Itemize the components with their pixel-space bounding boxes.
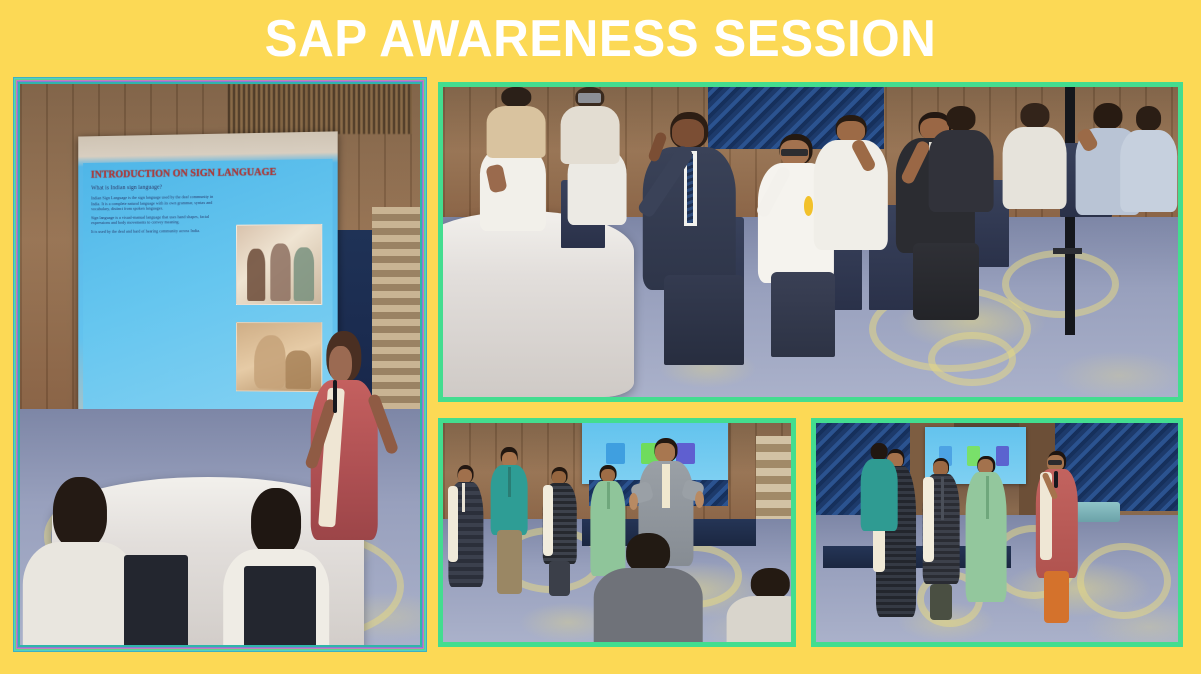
projection-heading xyxy=(955,430,956,435)
person-attendee xyxy=(1119,106,1178,211)
person-team-member xyxy=(488,447,530,598)
person-audience-foreground xyxy=(596,533,700,643)
person-attendee xyxy=(811,115,892,264)
eyeglasses-icon xyxy=(1048,460,1062,465)
slide-subtitle: What is Indian sign language? xyxy=(91,182,324,193)
person-attendee xyxy=(487,87,546,155)
eyeglasses-icon xyxy=(781,149,808,156)
person-photographer xyxy=(561,87,620,161)
slide-photo-signing-group xyxy=(236,224,322,306)
chair-back xyxy=(124,555,188,645)
photo-audience-signing-scene xyxy=(443,87,1178,397)
person-main-attendee xyxy=(627,112,752,360)
person-team-member xyxy=(540,467,578,598)
microphone-icon xyxy=(1054,471,1058,489)
lanyard-badge xyxy=(462,483,465,512)
lanyard-badge xyxy=(986,476,989,519)
chandelier xyxy=(228,84,412,134)
person-audience-foreground xyxy=(728,568,791,642)
slide-bullet-list: Indian Sign Language is the sign languag… xyxy=(91,195,220,235)
person-attendee xyxy=(928,106,994,211)
poster-canvas: SAP AWARENESS SESSION INTRODUCTION ON SI… xyxy=(0,0,1201,674)
person-team-member xyxy=(859,443,899,531)
slide-tile-icon xyxy=(606,443,625,464)
camera-phone-icon xyxy=(578,93,600,103)
person-team-member xyxy=(446,465,484,596)
slide-bullet: Indian Sign Language is the sign languag… xyxy=(91,195,220,212)
photo-panel-slide-presentation: INTRODUCTION ON SIGN LANGUAGE What is In… xyxy=(18,82,422,647)
microphone-icon xyxy=(333,380,337,414)
slide-title: INTRODUCTION ON SIGN LANGUAGE xyxy=(91,166,305,181)
necktie xyxy=(687,154,693,223)
shirt-and-tie xyxy=(662,464,670,508)
photo-panel-speaker-address xyxy=(438,418,796,647)
person-team-member xyxy=(921,458,961,620)
presenter-face xyxy=(329,346,352,382)
slide-bullet: Sign language is a visual-manual languag… xyxy=(91,214,220,226)
photo-speaker-address-scene xyxy=(443,423,791,642)
photo-slide-presentation-scene: INTRODUCTION ON SIGN LANGUAGE What is In… xyxy=(20,84,420,645)
photo-panel-audience-signing xyxy=(438,82,1183,402)
banquet-table xyxy=(443,211,634,397)
photo-panel-team-on-stage xyxy=(811,418,1183,647)
poster-title-bar: SAP AWARENESS SESSION xyxy=(0,6,1201,72)
trousers xyxy=(1044,571,1068,624)
trousers xyxy=(497,530,522,593)
person-audience-foreground xyxy=(28,477,132,645)
person-attendee xyxy=(1002,103,1068,208)
photo-team-on-stage-scene xyxy=(816,423,1178,642)
seated-legs xyxy=(664,275,744,364)
page-title: SAP AWARENESS SESSION xyxy=(265,11,937,67)
person-team-member xyxy=(964,456,1007,622)
projection-heading xyxy=(626,426,627,431)
chair-back xyxy=(244,566,316,645)
lanyard-badge xyxy=(941,477,944,519)
dupatta xyxy=(448,486,458,562)
lanyard-badge xyxy=(508,467,511,497)
slide-bullet: It is used by the deaf and hard of heari… xyxy=(91,229,220,235)
person-presenter-with-mic xyxy=(1033,451,1080,626)
light-stand-arm xyxy=(1053,248,1082,254)
